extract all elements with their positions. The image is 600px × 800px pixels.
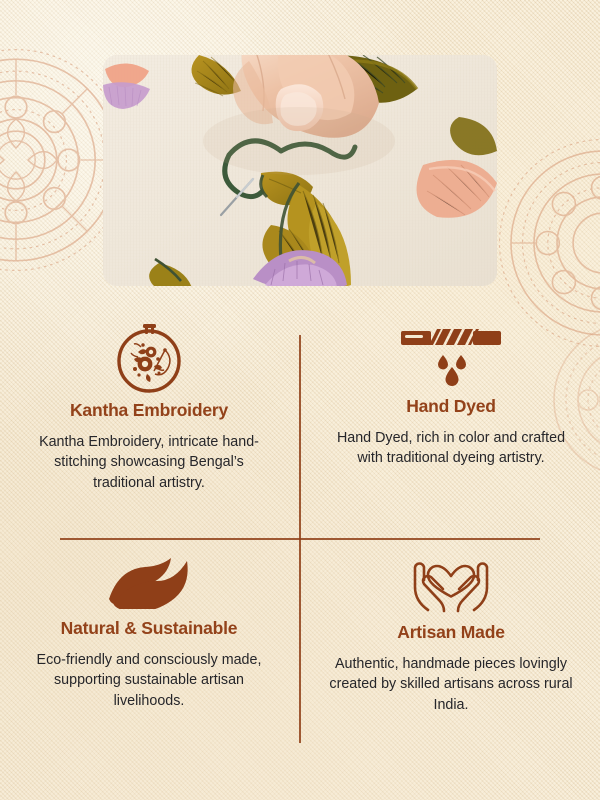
kantha-embroidery-photo [103, 55, 497, 286]
feature-title: Hand Dyed [320, 396, 582, 417]
hero-image-card [103, 55, 497, 286]
leaf-icon [18, 550, 280, 614]
feature-description: Hand Dyed, rich in color and crafted wit… [320, 428, 582, 469]
dye-brush-drops-icon [320, 320, 582, 392]
feature-title: Natural & Sustainable [18, 618, 280, 639]
feature-description: Eco-friendly and consciously made, suppo… [18, 650, 280, 711]
feature-description: Authentic, handmade pieces lovingly crea… [320, 654, 582, 715]
feature-card-artisan-made: Artisan Made Authentic, handmade pieces … [320, 546, 582, 715]
feature-card-natural-sustainable: Natural & Sustainable Eco-friendly and c… [18, 550, 280, 711]
features-grid: Kantha Embroidery Kantha Embroidery, int… [0, 318, 600, 738]
feature-description: Kantha Embroidery, intricate hand-stitch… [18, 432, 280, 493]
hands-holding-heart-icon [320, 546, 582, 618]
feature-card-hand-dyed: Hand Dyed Hand Dyed, rich in color and c… [320, 320, 582, 469]
feature-highlights-page: Kantha Embroidery Kantha Embroidery, int… [0, 0, 600, 800]
feature-card-kantha-embroidery: Kantha Embroidery Kantha Embroidery, int… [18, 320, 280, 493]
feature-title: Artisan Made [320, 622, 582, 643]
feature-title: Kantha Embroidery [18, 400, 280, 421]
embroidery-hoop-icon [18, 320, 280, 396]
horizontal-divider [60, 538, 540, 540]
